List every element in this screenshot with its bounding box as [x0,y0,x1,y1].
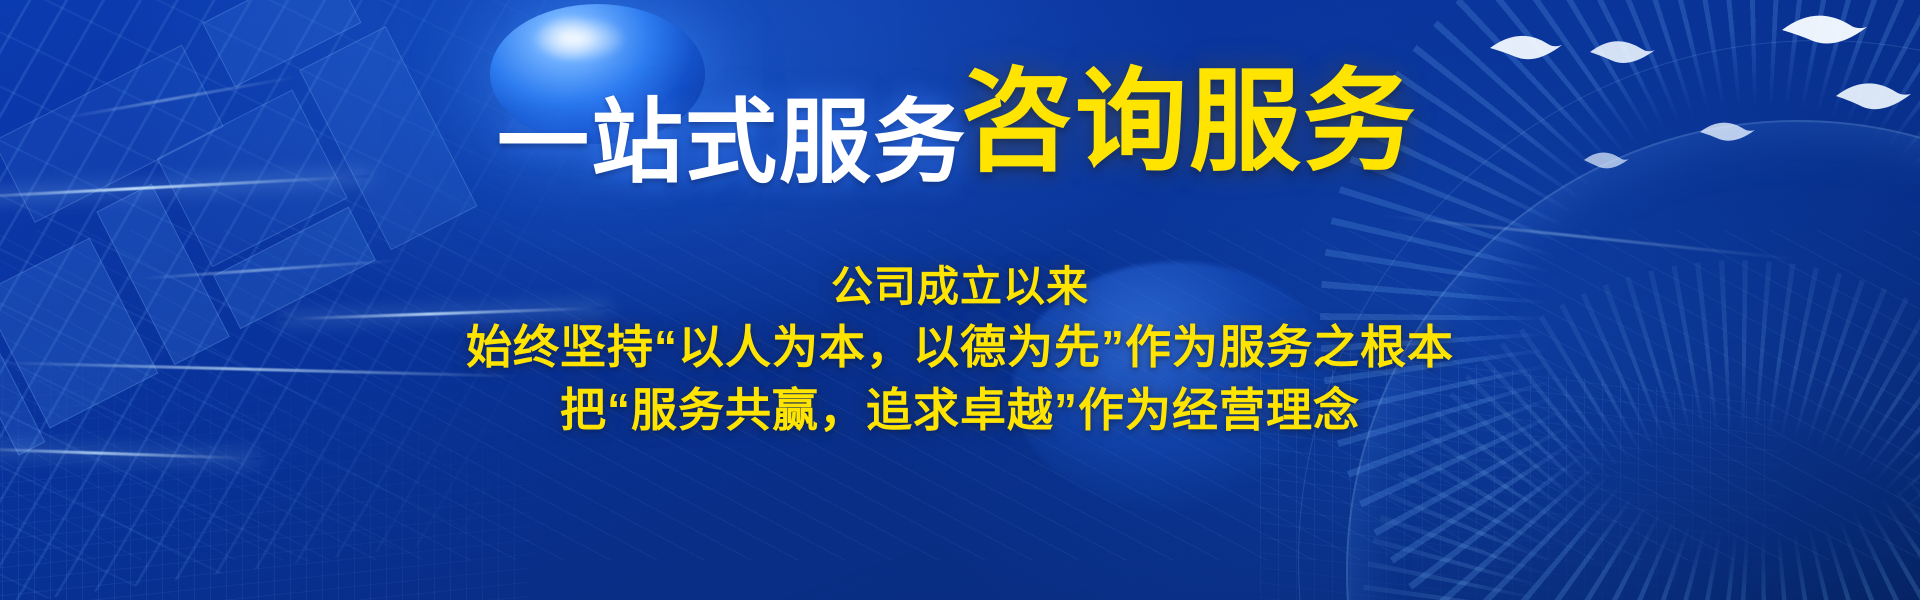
subtitle-line-3: 把“服务共赢，追求卓越”作为经营理念 [0,379,1920,442]
light-streak [1381,214,1799,261]
subtitle-line-1: 公司成立以来 [0,258,1920,316]
light-streak [0,447,260,460]
subtitle-block: 公司成立以来 始终坚持“以人为本，以德为先”作为服务之根本 把“服务共赢，追求卓… [0,258,1920,443]
headline-white-text: 一站式服务 [497,92,967,194]
promo-banner: 一站式服务咨询服务 公司成立以来 始终坚持“以人为本，以德为先”作为服务之根本 … [0,0,1920,600]
subtitle-line-2: 始终坚持“以人为本，以德为先”作为服务之根本 [0,316,1920,379]
headline-yellow-text: 咨询服务 [961,59,1417,184]
headline: 一站式服务咨询服务 [0,80,1920,192]
